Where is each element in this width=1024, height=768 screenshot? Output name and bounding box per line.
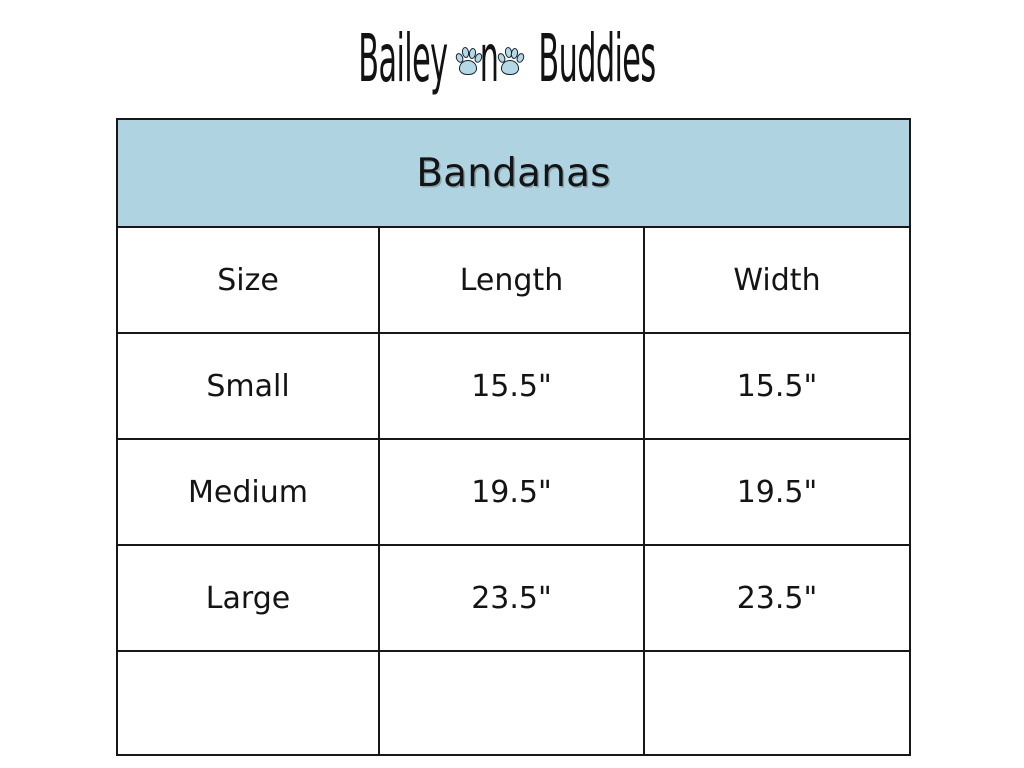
brand-logo-word-buddies: Buddies	[538, 25, 655, 91]
column-header-width: Width	[644, 227, 910, 333]
column-header-size: Size	[117, 227, 379, 333]
cell-width-medium: 19.5"	[644, 439, 910, 545]
brand-logo: Bailey n Buddies	[0, 22, 1024, 94]
brand-logo-lockup: Bailey n Buddies	[326, 29, 698, 87]
table-row-empty	[117, 651, 910, 755]
cell-length-large: 23.5"	[379, 545, 644, 651]
paw-print-icon-right	[497, 46, 523, 76]
table-header-row: Size Length Width	[117, 227, 910, 333]
cell-length-small: 15.5"	[379, 333, 644, 439]
table-row: Small 15.5" 15.5"	[117, 333, 910, 439]
paw-print-icon-left	[455, 46, 481, 76]
table-title-row: Bandanas	[117, 119, 910, 227]
paw-main-pad	[501, 60, 519, 75]
table-row: Large 23.5" 23.5"	[117, 545, 910, 651]
cell-width-small: 15.5"	[644, 333, 910, 439]
brand-logo-word-bailey: Bailey	[358, 25, 447, 91]
column-header-length: Length	[379, 227, 644, 333]
cell-size-small: Small	[117, 333, 379, 439]
brand-logo-separator-n: n	[480, 25, 499, 91]
paw-main-pad	[459, 60, 477, 75]
cell-length-medium: 19.5"	[379, 439, 644, 545]
cell-width-empty	[644, 651, 910, 755]
cell-size-medium: Medium	[117, 439, 379, 545]
table-row: Medium 19.5" 19.5"	[117, 439, 910, 545]
table-title: Bandanas	[117, 119, 910, 227]
size-chart-table: Bandanas Size Length Width Small 15.5" 1…	[116, 118, 911, 756]
cell-width-large: 23.5"	[644, 545, 910, 651]
cell-length-empty	[379, 651, 644, 755]
cell-size-empty	[117, 651, 379, 755]
cell-size-large: Large	[117, 545, 379, 651]
